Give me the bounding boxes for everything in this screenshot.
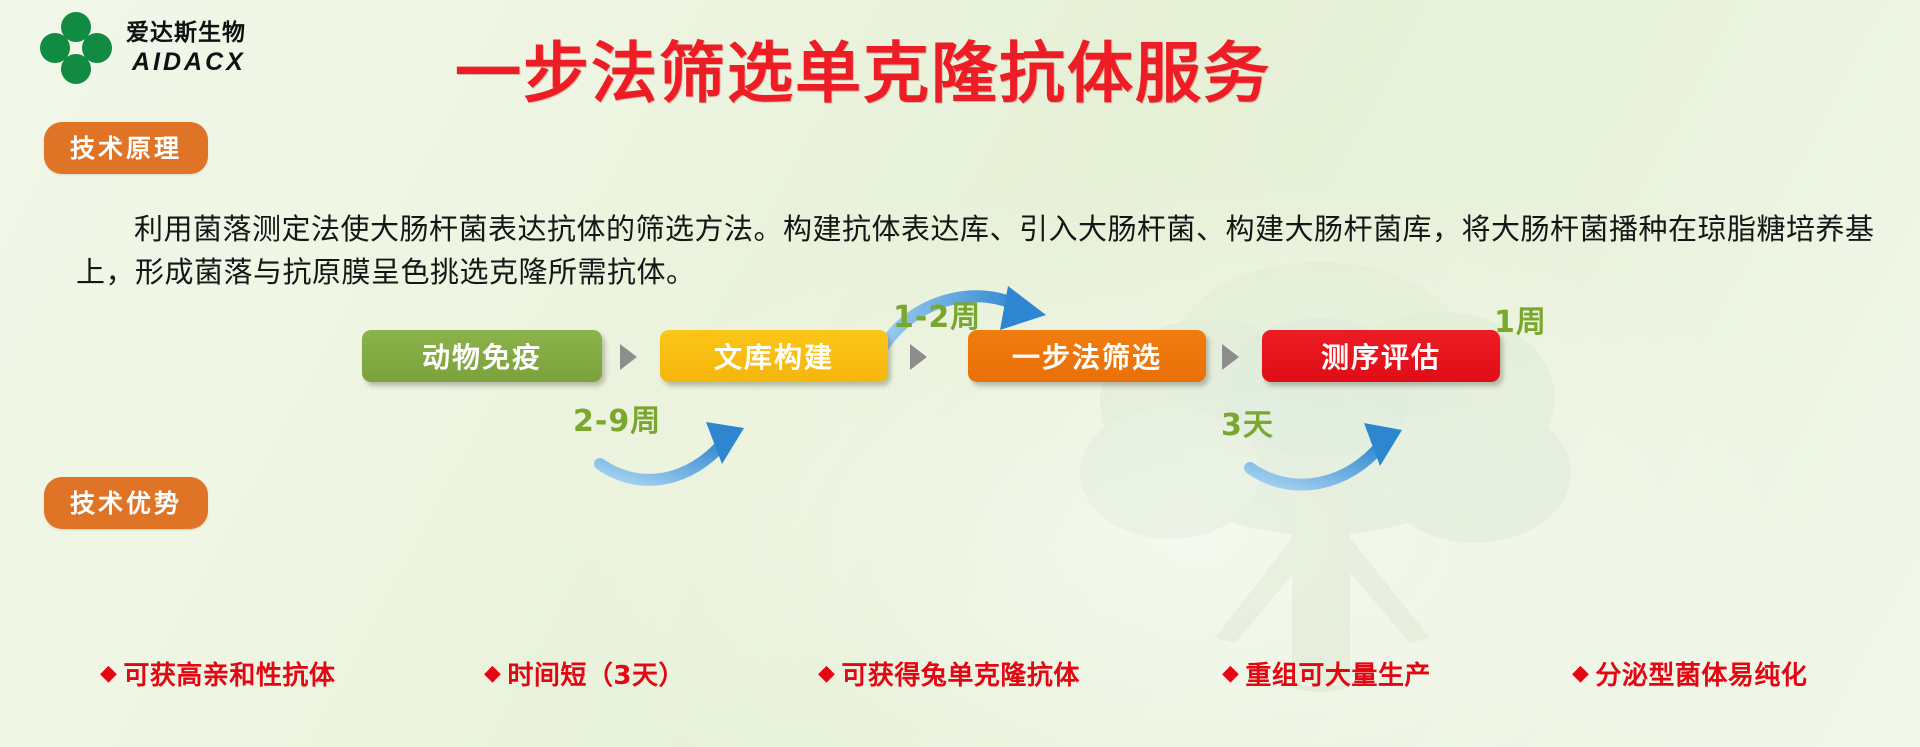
brand-text: 爱达斯生物 AIDACX <box>126 20 246 76</box>
section-badge-advantage: 技术优势 <box>44 477 208 529</box>
process-flow-diagram: 动物免疫 文库构建 一步法筛选 测序评估 <box>0 330 1920 430</box>
advantage-item: ◆可获高亲和性抗体 <box>100 655 335 692</box>
brand-logo: 爱达斯生物 AIDACX <box>40 12 246 84</box>
duration-label-4: 1周 <box>1494 297 1547 341</box>
flow-arrow-icon-3 <box>1222 344 1239 370</box>
diamond-bullet-icon: ◆ <box>1572 661 1589 686</box>
flow-step-2[interactable]: 文库构建 <box>660 330 888 382</box>
advantage-label: 可获高亲和性抗体 <box>123 655 335 692</box>
flow-step-4[interactable]: 测序评估 <box>1262 330 1500 382</box>
brand-name-en: AIDACX <box>126 48 246 76</box>
advantage-label: 时间短（3天） <box>507 655 685 692</box>
page-title: 一步法筛选单克隆抗体服务 <box>455 20 1271 116</box>
duration-label-3: 3天 <box>1221 400 1274 444</box>
advantage-item: ◆可获得兔单克隆抗体 <box>818 655 1080 692</box>
advantage-item: ◆时间短（3天） <box>484 655 685 692</box>
advantage-item: ◆分泌型菌体易纯化 <box>1572 655 1807 692</box>
flow-step-1[interactable]: 动物免疫 <box>362 330 602 382</box>
duration-label-2: 2-9周 <box>573 396 661 440</box>
diamond-bullet-icon: ◆ <box>484 661 501 686</box>
advantage-label: 分泌型菌体易纯化 <box>1595 655 1807 692</box>
flow-arrow-icon-2 <box>910 344 927 370</box>
advantage-item: ◆重组可大量生产 <box>1222 655 1431 692</box>
brand-name-cn: 爱达斯生物 <box>126 20 246 46</box>
diamond-bullet-icon: ◆ <box>100 661 117 686</box>
flow-step-3[interactable]: 一步法筛选 <box>968 330 1206 382</box>
clover-four-circles-icon <box>40 12 112 84</box>
diamond-bullet-icon: ◆ <box>1222 661 1239 686</box>
advantage-label: 重组可大量生产 <box>1245 655 1431 692</box>
diamond-bullet-icon: ◆ <box>818 661 835 686</box>
section-badge-principle: 技术原理 <box>44 122 208 174</box>
duration-label-1: 1-2周 <box>893 292 981 336</box>
advantage-label: 可获得兔单克隆抗体 <box>841 655 1080 692</box>
flow-arrow-icon-1 <box>620 344 637 370</box>
